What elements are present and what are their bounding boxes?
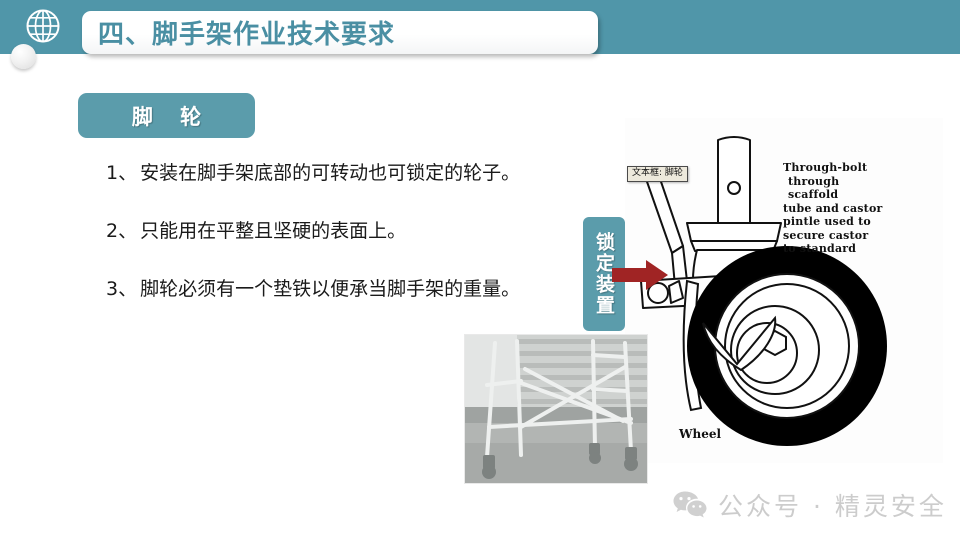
note-line: scaffold: [783, 188, 913, 202]
note-line: Through-bolt: [783, 161, 913, 175]
list-item-text: 安装在脚手架底部的可转动也可锁定的轮子。: [140, 158, 606, 185]
list-item-number: 3、: [106, 274, 137, 301]
note-line: to standard: [783, 242, 913, 256]
header-decor-dot: [11, 44, 36, 69]
list-item: 1、 安装在脚手架底部的可转动也可锁定的轮子。: [106, 158, 606, 185]
page-title: 四、脚手架作业技术要求: [98, 14, 395, 51]
slide-canvas: 四、脚手架作业技术要求 脚 轮 1、 安装在脚手架底部的可转动也可锁定的轮子。 …: [0, 0, 960, 540]
note-line: tube and castor: [783, 202, 913, 216]
note-line: pintle used to: [783, 215, 913, 229]
wheel-caption: Wheel: [679, 427, 721, 441]
bullet-list: 1、 安装在脚手架底部的可转动也可锁定的轮子。 2、 只能用在平整且坚硬的表面上…: [106, 158, 606, 332]
scaffold-photo: [464, 334, 648, 484]
note-line: secure castor: [783, 229, 913, 243]
wechat-icon: [673, 490, 707, 520]
list-item-number: 2、: [106, 216, 137, 243]
wechat-watermark: 公众号 · 精灵安全: [673, 487, 947, 523]
diagram-english-note: Through-bolt through scaffold tube and c…: [783, 161, 913, 256]
watermark-text: 公众号 · 精灵安全: [718, 487, 947, 523]
list-item-text: 只能用在平整且坚硬的表面上。: [140, 216, 606, 243]
textbox-tooltip-label: 文本框: 脚轮: [627, 166, 688, 182]
note-line: through: [783, 175, 913, 189]
list-item: 2、 只能用在平整且坚硬的表面上。: [106, 216, 606, 243]
list-item-text: 脚轮必须有一个垫铁以便承当脚手架的重量。: [140, 274, 606, 301]
list-item: 3、 脚轮必须有一个垫铁以便承当脚手架的重量。: [106, 274, 606, 301]
section-label-chip: 脚 轮: [78, 93, 255, 138]
globe-icon: [25, 8, 61, 44]
list-item-number: 1、: [106, 158, 137, 185]
right-arrow-icon: [612, 258, 668, 292]
section-label-text: 脚 轮: [122, 101, 211, 131]
slide-title-box: 四、脚手架作业技术要求: [82, 11, 598, 54]
